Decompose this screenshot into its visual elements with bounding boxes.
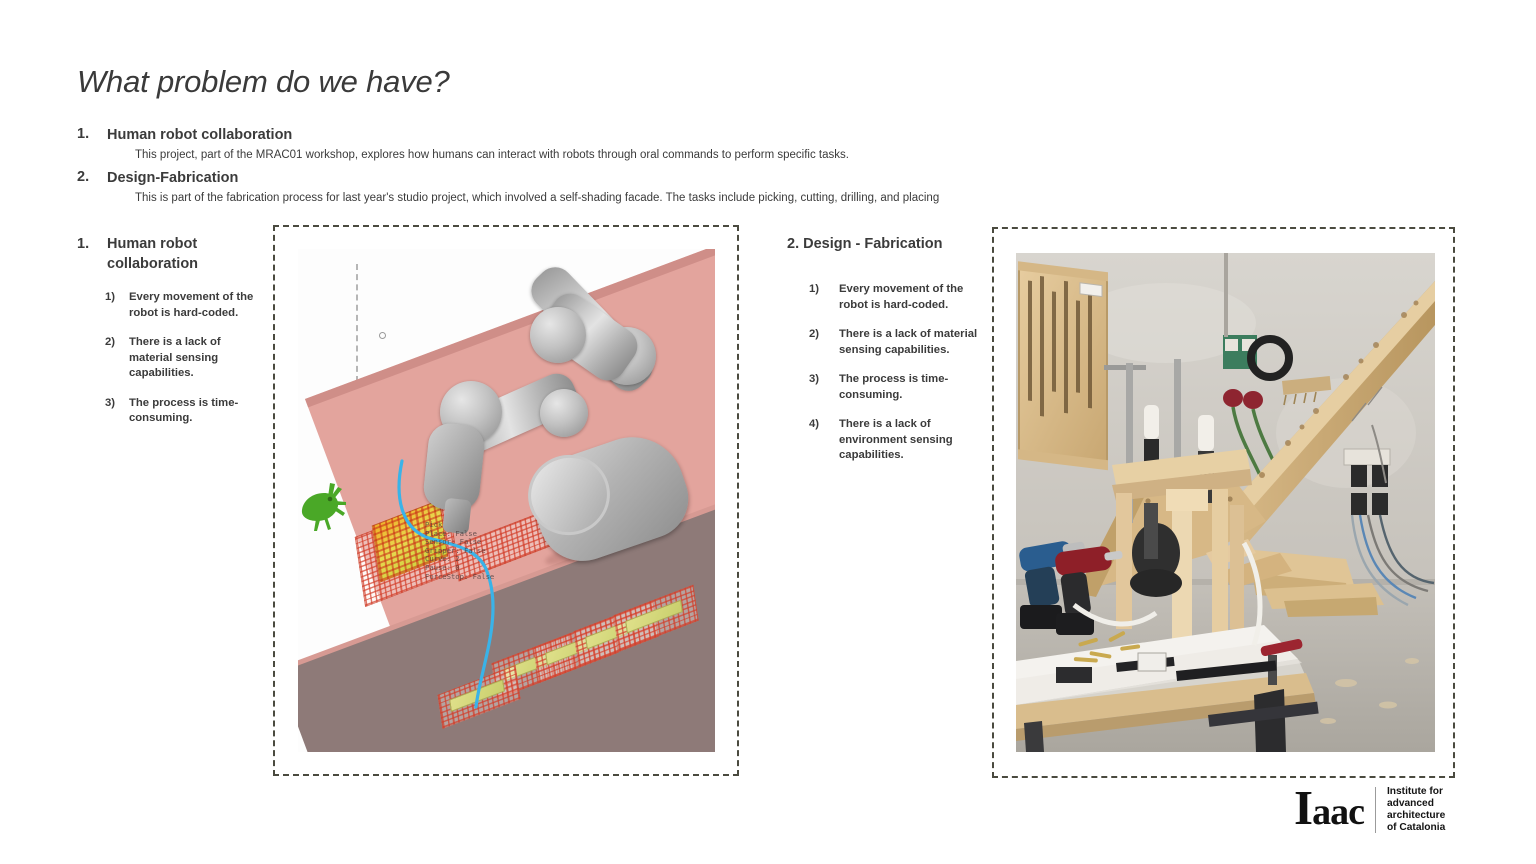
intro-item-1: 1. Human robot collaboration This projec… — [77, 126, 1037, 163]
right-point-4-number: 4) — [809, 417, 819, 433]
intro-item-1-number: 1. — [77, 126, 89, 142]
left-point-2: 2) There is a lack of material sensing c… — [77, 335, 267, 382]
left-column-heading-label: Human robot collaboration — [107, 234, 267, 274]
left-point-1: 1) Every movement of the robot is hard-c… — [77, 290, 267, 321]
right-point-1-text: Every movement of the robot is hard-code… — [839, 283, 963, 311]
fabrication-photo-content — [1016, 253, 1435, 752]
left-column-text: 1. Human robot collaboration 1) Every mo… — [77, 234, 267, 441]
left-column-points: 1) Every movement of the robot is hard-c… — [77, 290, 267, 427]
iaac-logo-tagline: Institute for advanced architecture of C… — [1387, 786, 1445, 835]
left-point-1-number: 1) — [105, 290, 115, 306]
iaac-logo-line-1: Institute for — [1387, 786, 1445, 798]
iaac-logo-line-3: architecture — [1387, 810, 1445, 822]
intro-item-2: 2. Design-Fabrication This is part of th… — [77, 169, 1037, 206]
right-point-1: 1) Every movement of the robot is hard-c… — [787, 282, 987, 313]
iaac-logo-mark-i: I — [1294, 780, 1312, 835]
page-title: What problem do we have? — [77, 64, 450, 100]
right-point-2-text: There is a lack of material sensing capa… — [839, 328, 977, 356]
simulation-status-overlay: Pick Place: False Sensor: False Gripper:… — [425, 521, 494, 581]
right-column-text: 2. Design - Fabrication 1) Every movemen… — [787, 234, 987, 478]
intro-item-2-body: This is part of the fabrication process … — [135, 191, 1037, 206]
left-column-heading: 1. Human robot collaboration — [77, 234, 267, 274]
right-point-1-number: 1) — [809, 282, 819, 298]
left-point-1-text: Every movement of the robot is hard-code… — [129, 291, 253, 319]
iaac-logo: Iaac Institute for advanced architecture… — [1294, 783, 1445, 837]
robot-simulation-image: Pick Place: False Sensor: False Gripper:… — [298, 249, 715, 752]
iaac-logo-divider — [1375, 787, 1376, 833]
right-point-3-text: The process is time-consuming. — [839, 373, 948, 401]
left-point-2-number: 2) — [105, 335, 115, 351]
iaac-logo-line-4: of Catalonia — [1387, 822, 1445, 834]
right-point-4-text: There is a lack of environment sensing c… — [839, 418, 953, 461]
robot-toolpath-curve — [298, 249, 715, 752]
intro-item-1-heading: Human robot collaboration — [107, 126, 1037, 145]
iaac-logo-line-2: advanced — [1387, 798, 1445, 810]
right-column-heading: 2. Design - Fabrication — [787, 234, 987, 254]
left-point-3-text: The process is time-consuming. — [129, 397, 238, 425]
intro-item-1-body: This project, part of the MRAC01 worksho… — [135, 148, 1037, 163]
iaac-logo-mark: Iaac — [1294, 783, 1364, 837]
fabrication-photo — [1016, 253, 1435, 752]
intro-list: 1. Human robot collaboration This projec… — [77, 126, 1037, 206]
right-point-2: 2) There is a lack of material sensing c… — [787, 327, 987, 358]
right-column-heading-label: 2. Design - Fabrication — [787, 234, 987, 254]
left-column-heading-number: 1. — [77, 234, 89, 254]
right-column-points: 1) Every movement of the robot is hard-c… — [787, 282, 987, 464]
intro-item-2-number: 2. — [77, 169, 89, 185]
left-point-2-text: There is a lack of material sensing capa… — [129, 336, 221, 379]
right-point-3-number: 3) — [809, 372, 819, 388]
intro-item-2-heading: Design-Fabrication — [107, 169, 1037, 188]
right-point-4: 4) There is a lack of environment sensin… — [787, 417, 987, 464]
right-point-2-number: 2) — [809, 327, 819, 343]
right-point-3: 3) The process is time-consuming. — [787, 372, 987, 403]
left-point-3: 3) The process is time-consuming. — [77, 396, 267, 427]
left-point-3-number: 3) — [105, 396, 115, 412]
iaac-logo-mark-aac: aac — [1312, 791, 1364, 833]
